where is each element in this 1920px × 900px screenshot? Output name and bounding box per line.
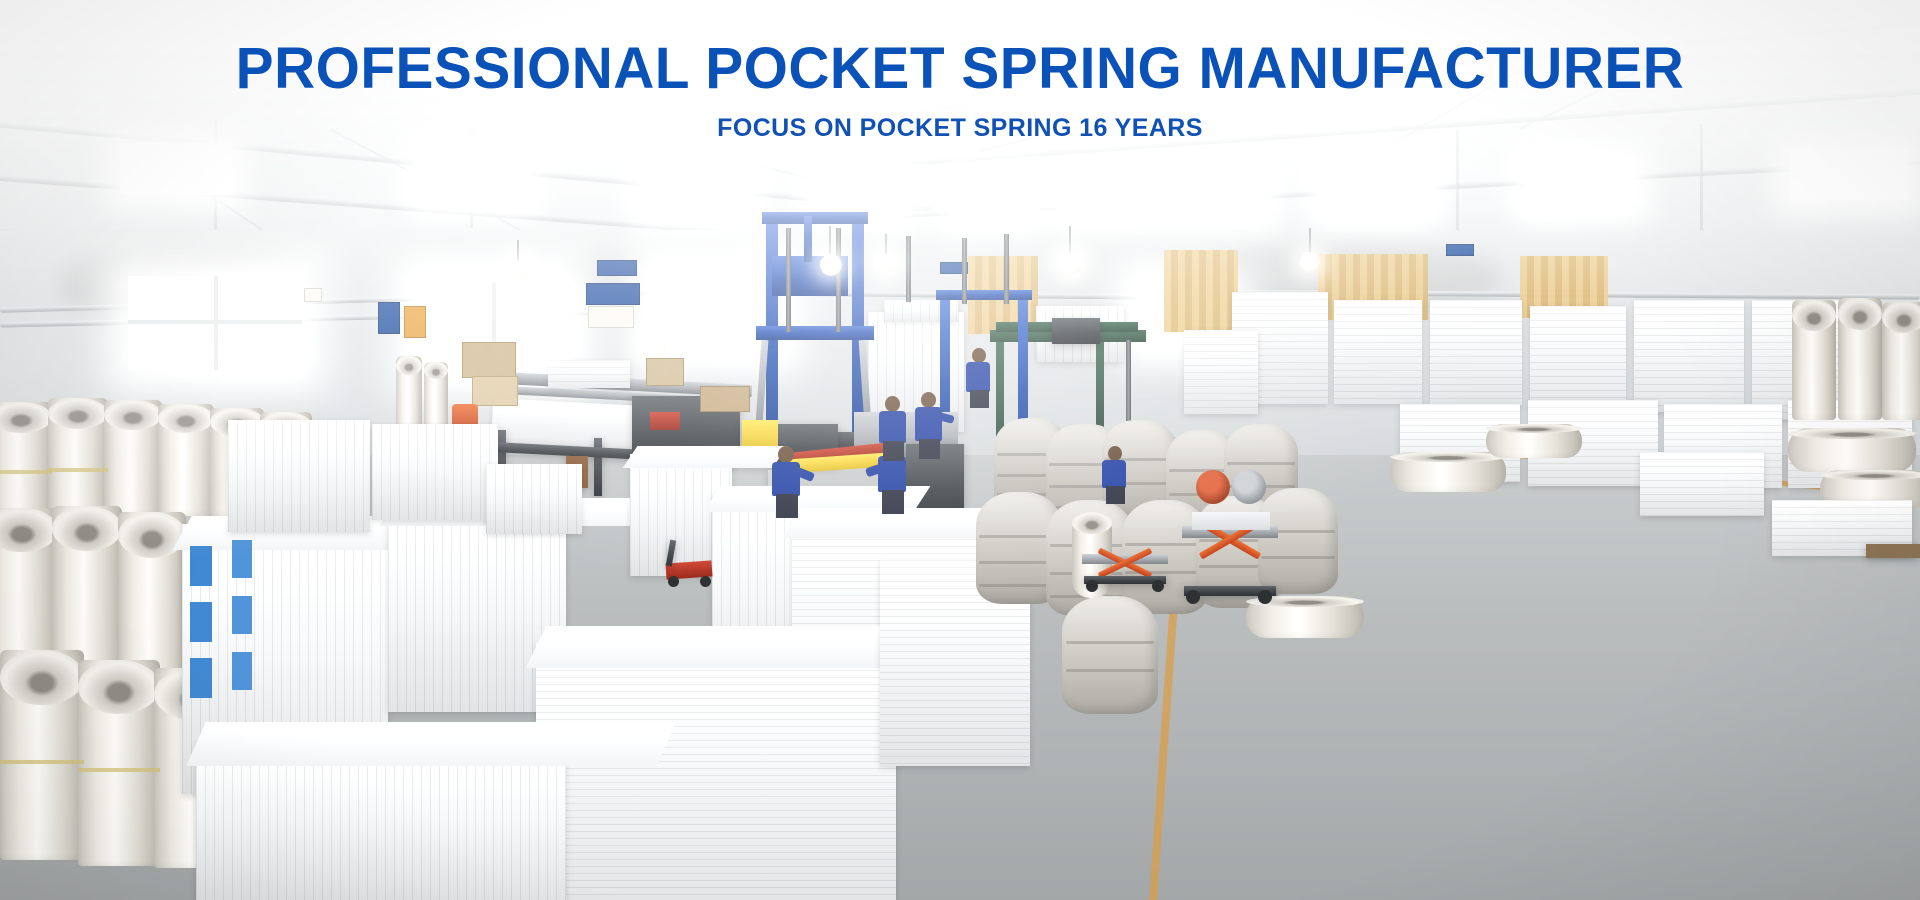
roll-band [0,760,84,764]
roll-band [0,470,52,474]
roof-purlin [1456,130,1459,230]
fabric-roll [48,398,108,516]
skylight-panel [1530,158,1634,206]
skylight-panel [1172,170,1260,212]
fabric-roll [1838,298,1882,420]
blue-strap [232,652,252,690]
roll-band [78,768,160,772]
press-guide-rod [786,228,791,332]
window-mullion [214,276,218,370]
wall-sign [588,306,634,328]
coil-band [1066,641,1154,644]
worker [874,396,912,460]
wall-sign [1446,244,1474,256]
wall-sign [378,302,400,334]
blue-strap [232,540,252,578]
worker-legs [776,494,798,518]
worker-head [885,396,900,412]
skylight-panel [820,172,904,212]
worker-torso [772,462,800,496]
pocket-spring-pallet [372,424,498,520]
fabric-roll-horizontal [1390,452,1506,492]
pocket-spring-stack [1640,452,1764,516]
cardboard-box [700,386,750,412]
ceiling-lamp [509,260,527,278]
ceiling-lamp [1060,252,1082,274]
floor-pallet [1866,544,1920,558]
fabric-roll-horizontal [1788,428,1916,472]
fabric-roll [396,356,422,430]
worker [910,392,948,458]
cart-wheel [700,576,711,587]
hero-banner: PROFESSIONAL POCKET SPRING MANUFACTURER … [0,0,1920,900]
pocket-spring-stack [1634,300,1744,412]
skylight-panel [1326,164,1426,210]
fabric-roll [0,402,52,522]
wire-coil-bundle [1258,488,1338,594]
overhead-gantry-post [1096,342,1104,434]
worker-head [921,392,936,408]
wall-sign [586,283,640,305]
pocket-spring-pallet [486,464,582,534]
fabric-roll [104,400,162,516]
machine-warning-panel [650,412,680,430]
worker-legs [882,490,904,514]
blue-press-crossbeam [762,212,868,224]
cart-wheel [1152,580,1164,592]
cart-wheel [1258,590,1272,604]
blue-press-column [804,216,812,262]
blue-strap [190,546,212,586]
gantry-hoist [1052,318,1100,344]
worker-torso [966,362,990,392]
pocket-spring-stack [1334,300,1422,404]
pocket-spring-stack [1530,306,1626,410]
fabric-roll [1882,302,1920,420]
fabric-roll [1792,300,1836,420]
fabric-roll [0,650,84,860]
vertical-rod [962,238,967,304]
worker-legs [1106,486,1125,504]
fabric-roll [158,404,214,516]
skylight-panel [120,143,232,195]
coil-band [1125,543,1204,546]
wire-coil-bundle [1062,596,1158,714]
cart-wheel [1186,590,1200,604]
vertical-rod [1004,234,1009,304]
worker-torso [879,411,906,443]
pocket-spring-pallet [228,420,370,532]
wall-window [128,276,302,370]
wall-sign [597,260,637,276]
vertical-rod [906,236,911,302]
worker-head [778,446,794,463]
roof-purlin [1700,124,1703,234]
skylight-panel [952,176,1028,214]
worker-head [972,348,986,363]
coil-band [1227,462,1295,465]
wall-sign [304,288,322,302]
blue-strap [190,602,212,642]
skylight-panel [1790,148,1908,200]
blue-frame-beam [936,290,1032,300]
pallet-top-surface [186,722,676,766]
pocket-spring-stack [1184,330,1258,414]
cardboard-box [646,358,684,386]
factory-photo [0,0,1920,900]
cart-wheel [668,576,679,587]
skylight-panel [1066,174,1146,212]
worker-legs [970,390,989,408]
wall-sign-orange [404,306,426,338]
pallet-top-surface [623,446,788,468]
cardboard-box [462,342,516,378]
worker-legs [883,441,904,461]
worker [1098,446,1132,504]
cardboard-box [472,376,518,406]
press-guide-rod [836,228,841,332]
ceiling-lamp [1300,252,1320,272]
ceiling-lamp [646,338,666,358]
blue-press-table [756,326,874,340]
ceiling-lamp [877,254,895,272]
coil-band [1261,556,1335,559]
lift-load [1192,512,1270,530]
wire-spool [1196,470,1230,504]
coil-band [1066,669,1154,672]
skylight-panel [424,153,522,201]
pocket-spring-stack [548,360,630,388]
fabric-roll-horizontal [1486,424,1582,458]
worker-torso [878,456,906,492]
overhead-gantry-post [996,342,1004,438]
worker [766,446,806,518]
worker [962,348,996,408]
wire-spool [1232,470,1266,504]
cart-wheel [1086,580,1098,592]
pocket-spring-pallet [536,642,896,900]
pocket-spring-stack [1430,300,1522,406]
fabric-roll [78,660,160,866]
worker-torso [1102,460,1126,488]
worker-legs [919,439,940,459]
blue-strap [190,658,212,698]
blue-strap [232,596,252,634]
roll-band [48,468,108,472]
ceiling-lamp [820,254,842,276]
fabric-curtain [1164,250,1238,332]
skylight-panel [648,166,744,210]
worker-head [1108,446,1122,461]
fabric-roll [424,362,448,428]
worker-torso [915,407,942,441]
